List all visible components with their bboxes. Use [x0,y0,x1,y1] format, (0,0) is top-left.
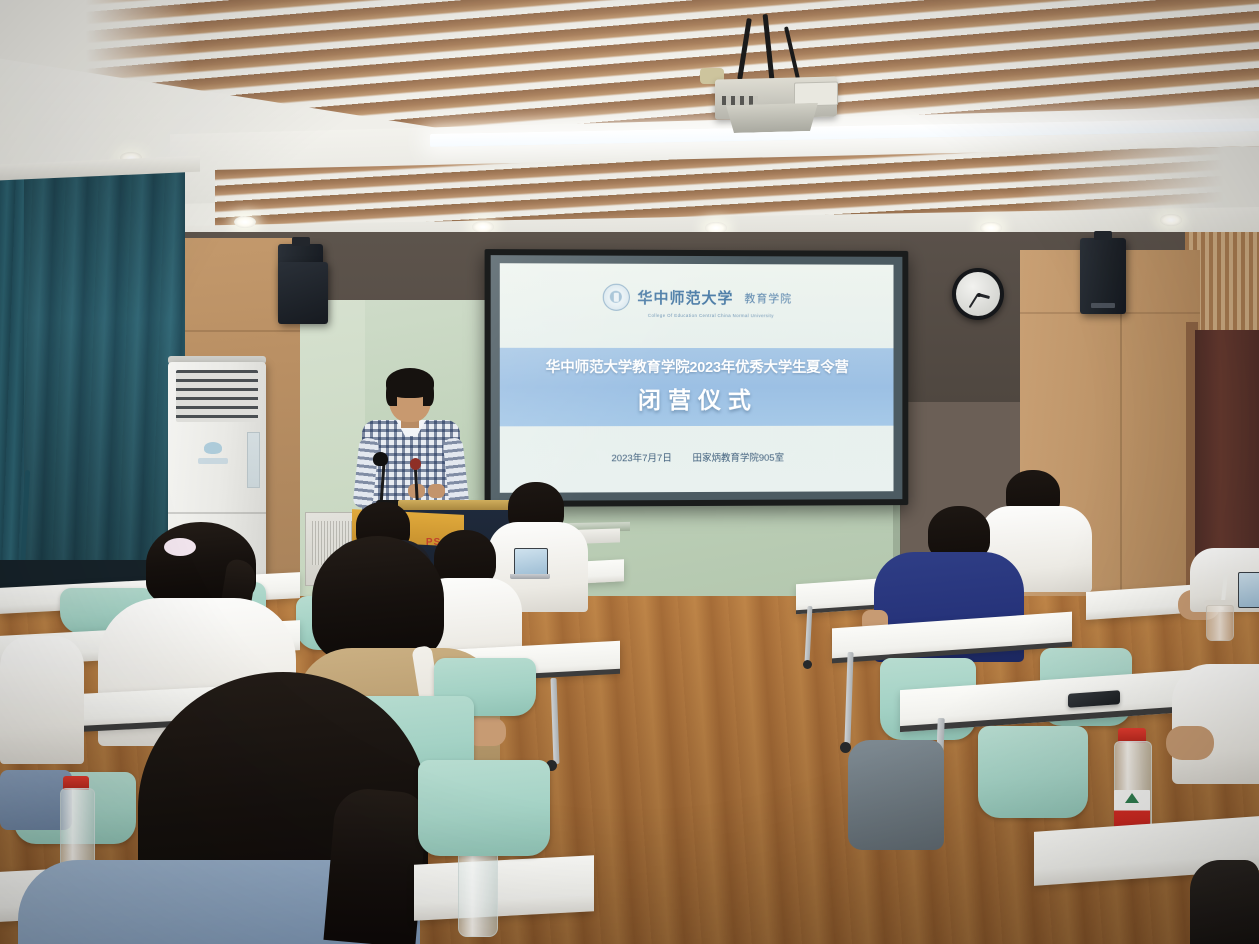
table-foreground-center [414,855,594,920]
table-caster [803,660,812,669]
audience-arm-right-front [1166,726,1214,760]
chair-right-front[interactable] [978,726,1088,818]
laptop-screen-center[interactable] [514,548,548,576]
backpack-on-floor[interactable] [848,740,944,850]
ac-display-panel[interactable] [198,458,228,464]
curtain-left-panel[interactable] [0,168,24,598]
curtain-shading [0,168,185,598]
logo-chinese-name: 华中师范大学 [637,287,733,308]
projection-screen-surface: 华中师范大学 教育学院 College Of Education Central… [491,255,903,501]
logo-lockup: 华中师范大学 教育学院 [603,284,792,312]
slide-subtitle: 闭营仪式 [500,381,894,415]
clock-face [956,272,1000,316]
iced-drink-cup[interactable] [1206,605,1234,641]
audience-hair-foreground-side [323,786,428,944]
slide-title: 华中师范大学教育学院2023年优秀大学生夏令营 [500,356,894,377]
logo-english-name: College Of Education Central China Norma… [648,313,774,318]
downlight-icon [234,216,256,228]
ac-panel-seam [168,512,266,514]
wall-clock [952,268,1004,320]
microphone-head-right [410,458,421,470]
projector-lens-housing [722,103,822,134]
speaker-badge [1091,303,1115,308]
speaker-mount [292,237,310,246]
audience-head-tan-vest [312,536,444,662]
presenter-hair-side [423,380,434,406]
slide-location: 田家炳教育学院905室 [692,453,784,464]
audience-body-right-front [1172,664,1259,784]
presenter-hair-side [386,380,397,406]
audience-head-bottom-right [1190,860,1259,944]
slide-logo: 华中师范大学 教育学院 College Of Education Central… [500,283,894,318]
presentation-slide: 华中师范大学 教育学院 College Of Education Central… [500,263,894,493]
microphone-head-left [373,452,388,466]
downlight-icon [1160,214,1182,226]
clock-center-pin [977,293,981,297]
presenter-hand-right [428,484,445,498]
wall-monitor [278,262,328,324]
classroom-photo: 华中师范大学 教育学院 College Of Education Central… [0,0,1259,944]
ac-brand-logo-icon [204,442,222,454]
ac-side-label [247,432,260,488]
projector-label-panel [794,81,838,106]
chair-foreground-center[interactable] [418,760,550,856]
logo-chinese-sub: 教育学院 [744,290,792,306]
hair-scrunchie [164,538,196,556]
speaker-mount [1094,231,1112,240]
laptop-base-center[interactable] [510,574,550,579]
projection-screen: 华中师范大学 教育学院 College Of Education Central… [485,249,909,507]
ac-vent-louvers [176,370,258,422]
university-seal-icon [603,284,630,311]
slide-date: 2023年7月7日 [611,453,671,464]
projector-connector-panel [722,96,758,105]
mountain-logo-icon [1125,793,1139,803]
wall-speaker-right [1080,238,1126,314]
audience-body-left-edge [0,636,84,764]
laptop-screen-right[interactable] [1238,572,1259,608]
slide-footer: 2023年7月7日 田家炳教育学院905室 [500,450,894,465]
